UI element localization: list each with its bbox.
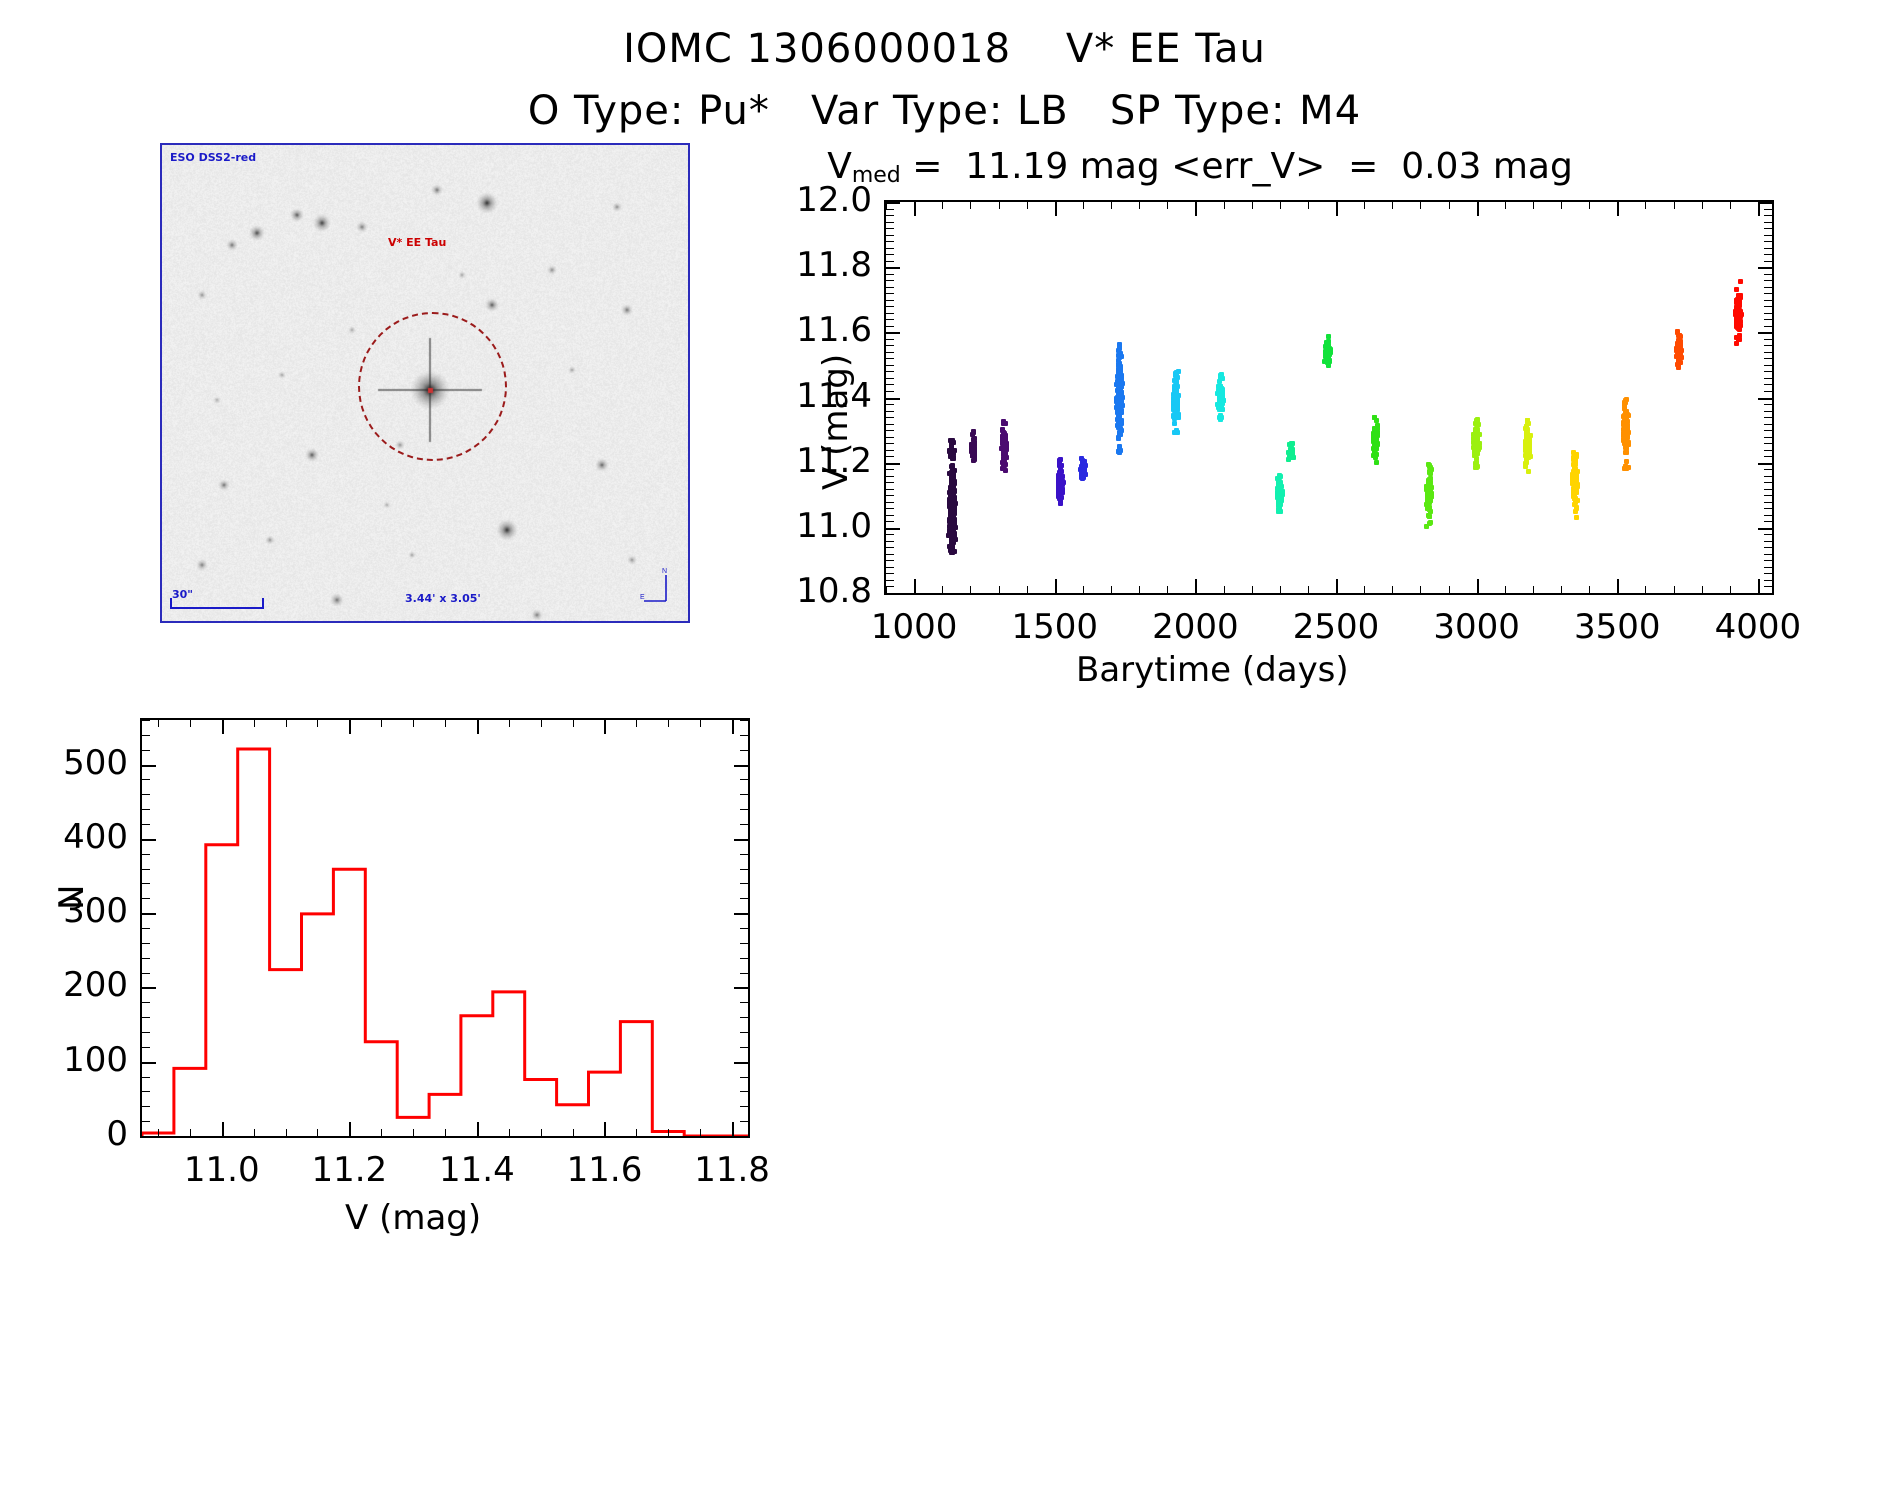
axis-tick [477, 1122, 479, 1136]
lightcurve-stats: Vmed = 11.19 mag <err_V> = 0.03 mag [820, 146, 1580, 188]
axis-tick [1477, 579, 1479, 593]
axis-tick [1764, 547, 1772, 548]
axis-tick [1764, 417, 1772, 418]
lightcurve-point [1173, 430, 1178, 435]
lightcurve-point [949, 464, 954, 469]
lightcurve-x-axis-title: Barytime (days) [1076, 650, 1349, 690]
lightcurve-point [970, 432, 975, 437]
axis-tick [886, 534, 894, 535]
axis-tick [1027, 202, 1028, 209]
lightcurve-point [1573, 482, 1578, 487]
lightcurve-point [1523, 426, 1528, 431]
axis-tick [740, 898, 748, 899]
axis-tick-label: 11.4 [439, 1150, 515, 1190]
lightcurve-point [1428, 465, 1433, 470]
axis-tick [1764, 482, 1772, 483]
lightcurve-point [1117, 410, 1122, 415]
axis-tick [886, 332, 900, 334]
axis-tick [573, 1129, 574, 1136]
axis-tick [886, 274, 894, 275]
axis-tick [1764, 319, 1772, 320]
axis-tick [142, 898, 150, 899]
axis-tick [1764, 554, 1772, 555]
lightcurve-point [1174, 373, 1179, 378]
axis-tick [222, 1122, 224, 1136]
lightcurve-point [970, 452, 975, 457]
lightcurve-point [1172, 421, 1177, 426]
lightcurve-point [972, 448, 977, 453]
axis-tick [1055, 202, 1057, 216]
axis-tick [286, 1129, 287, 1136]
axis-tick [1617, 202, 1619, 216]
axis-tick [1674, 202, 1675, 209]
axis-tick [1252, 586, 1253, 593]
axis-tick-label: 11.8 [694, 1150, 770, 1190]
axis-tick [509, 1129, 510, 1136]
lightcurve-point [1426, 491, 1431, 496]
axis-tick [142, 928, 150, 929]
lightcurve-point [1572, 468, 1577, 473]
axis-tick [1764, 371, 1772, 372]
lightcurve-point [1624, 450, 1629, 455]
axis-tick [886, 489, 894, 490]
lightcurve-point [1524, 458, 1529, 463]
axis-tick [1758, 202, 1760, 216]
lightcurve-point [1118, 390, 1123, 395]
axis-tick [1764, 476, 1772, 477]
lightcurve-point [1472, 453, 1477, 458]
axis-tick [740, 958, 748, 959]
lightcurve-point [1117, 355, 1122, 360]
axis-tick [1764, 287, 1772, 288]
lightcurve-scatter-points [886, 202, 1772, 593]
axis-tick [886, 384, 894, 385]
lightcurve-point [1277, 507, 1282, 512]
axis-tick [886, 235, 894, 236]
axis-tick [1280, 202, 1281, 209]
axis-tick [942, 586, 943, 593]
axis-tick [1505, 202, 1506, 209]
axis-tick [734, 913, 748, 915]
lightcurve-point [1427, 485, 1432, 490]
axis-tick [142, 973, 150, 974]
axis-tick [1764, 248, 1772, 249]
axis-tick [445, 1129, 446, 1136]
histogram-panel: 11.011.211.411.611.80100200300400500 N V… [60, 700, 820, 1260]
lightcurve-point [1117, 344, 1122, 349]
svg-text:E: E [640, 594, 645, 601]
axis-tick [886, 215, 894, 216]
axis-tick [886, 528, 900, 530]
axis-tick [886, 371, 894, 372]
axis-tick [413, 720, 414, 727]
axis-tick [1758, 398, 1772, 400]
axis-tick [317, 1129, 318, 1136]
stats-values: = 11.19 mag <err_V> = 0.03 mag [901, 146, 1573, 187]
object-type-line: O Type: Pu* Var Type: LB SP Type: M4 [0, 88, 1889, 134]
axis-tick [1364, 586, 1365, 593]
axis-tick [886, 541, 894, 542]
axis-tick [445, 720, 446, 727]
axis-tick [1224, 202, 1225, 209]
axis-tick [1758, 267, 1772, 269]
axis-tick [1764, 437, 1772, 438]
axis-tick [886, 300, 894, 301]
lightcurve-point [1056, 492, 1061, 497]
axis-tick-label: 11.6 [567, 1150, 643, 1190]
axis-tick [1167, 586, 1168, 593]
lightcurve-point [949, 525, 954, 530]
lightcurve-point [1116, 449, 1121, 454]
axis-tick [886, 515, 894, 516]
lightcurve-point [1475, 439, 1480, 444]
svg-text:N: N [662, 568, 667, 575]
axis-tick [886, 391, 894, 392]
axis-tick [886, 456, 894, 457]
axis-tick [886, 404, 894, 405]
lightcurve-point [1325, 359, 1330, 364]
axis-tick [740, 1002, 748, 1003]
axis-tick [886, 586, 894, 587]
axis-tick [740, 928, 748, 929]
lightcurve-point [1474, 460, 1479, 465]
lightcurve-point [1735, 303, 1740, 308]
axis-tick [886, 339, 894, 340]
axis-tick-label: 2000 [1152, 607, 1239, 647]
lightcurve-point [1622, 424, 1627, 429]
axis-tick-label: 3500 [1574, 607, 1661, 647]
lightcurve-point [1373, 433, 1378, 438]
lightcurve-point [1738, 279, 1743, 284]
axis-tick [142, 765, 156, 767]
axis-tick [886, 560, 894, 561]
axis-tick [142, 943, 150, 944]
axis-tick [1533, 202, 1534, 209]
axis-tick [142, 1106, 150, 1107]
axis-tick [886, 326, 894, 327]
axis-tick [1195, 202, 1197, 216]
axis-tick [886, 365, 894, 366]
axis-tick-label: 11.0 [796, 506, 872, 546]
lightcurve-point [1374, 452, 1379, 457]
axis-tick [1758, 579, 1760, 593]
axis-tick [740, 943, 748, 944]
axis-tick [886, 306, 894, 307]
lightcurve-point [949, 477, 954, 482]
axis-tick [734, 987, 748, 989]
axis-tick [541, 720, 542, 727]
axis-tick [886, 280, 894, 281]
axis-tick [142, 779, 150, 780]
axis-tick [1764, 560, 1772, 561]
axis-tick [142, 913, 156, 915]
axis-tick [1764, 489, 1772, 490]
lightcurve-point [1118, 421, 1123, 426]
lightcurve-point [1527, 437, 1532, 442]
axis-tick [1589, 202, 1590, 209]
axis-tick [740, 869, 748, 870]
axis-tick [1764, 241, 1772, 242]
axis-tick [886, 430, 894, 431]
axis-tick [142, 824, 150, 825]
lightcurve-point [1374, 418, 1379, 423]
axis-tick [142, 794, 150, 795]
axis-tick [142, 1091, 150, 1092]
axis-tick [1764, 378, 1772, 379]
lightcurve-point [1172, 407, 1177, 412]
lightcurve-point [1326, 347, 1331, 352]
axis-tick [734, 765, 748, 767]
axis-tick [886, 313, 894, 314]
lightcurve-point [1736, 337, 1741, 342]
lightcurve-point [1622, 402, 1627, 407]
axis-tick [1764, 495, 1772, 496]
lightcurve-point [1474, 434, 1479, 439]
axis-tick [886, 443, 894, 444]
axis-tick [142, 839, 156, 841]
histogram-y-axis-title: N [52, 885, 92, 910]
axis-tick [381, 1129, 382, 1136]
axis-tick [1758, 202, 1772, 204]
axis-tick [740, 883, 748, 884]
axis-tick [541, 1129, 542, 1136]
axis-tick [1764, 326, 1772, 327]
lightcurve-y-axis-title: V (mag) [816, 354, 856, 490]
lightcurve-point [1427, 470, 1432, 475]
axis-tick [1764, 450, 1772, 451]
axis-tick [740, 794, 748, 795]
axis-tick [349, 1122, 351, 1136]
axis-tick [1764, 306, 1772, 307]
axis-tick [1195, 579, 1197, 593]
axis-tick-label: 1500 [1011, 607, 1098, 647]
axis-tick [886, 287, 894, 288]
axis-tick [1764, 424, 1772, 425]
axis-tick [1167, 202, 1168, 209]
axis-tick [142, 987, 156, 989]
axis-tick [1139, 202, 1140, 209]
axis-tick [286, 720, 287, 727]
axis-tick [1702, 202, 1703, 209]
lightcurve-point [1623, 413, 1628, 418]
axis-tick [1764, 541, 1772, 542]
lightcurve-point [1735, 325, 1740, 330]
axis-tick-label: 11.8 [796, 245, 872, 285]
axis-tick [740, 779, 748, 780]
axis-tick [886, 482, 894, 483]
axis-tick [1645, 202, 1646, 209]
axis-tick [886, 267, 900, 269]
axis-tick [740, 750, 748, 751]
axis-tick-label: 100 [63, 1040, 128, 1080]
axis-tick [1764, 573, 1772, 574]
axis-tick [886, 495, 894, 496]
axis-tick [142, 750, 150, 751]
axis-tick [1083, 202, 1084, 209]
lightcurve-point [1734, 287, 1739, 292]
axis-tick [1764, 313, 1772, 314]
axis-tick [886, 547, 894, 548]
lightcurve-point [949, 517, 954, 522]
axis-tick [740, 809, 748, 810]
lightcurve-point [1219, 415, 1224, 420]
lightcurve-point [1002, 444, 1007, 449]
axis-tick [886, 254, 894, 255]
finding-chart-panel: V* EE Tau ESO DSS2-red 30" 3.44' x 3.05'… [160, 143, 690, 623]
axis-tick [886, 352, 894, 353]
axis-tick-label: 11.0 [184, 1150, 260, 1190]
axis-tick [1764, 293, 1772, 294]
axis-tick [886, 319, 894, 320]
axis-tick [1561, 202, 1562, 209]
axis-tick [942, 202, 943, 209]
axis-tick [1308, 202, 1309, 209]
axis-tick [1252, 202, 1253, 209]
axis-tick [509, 720, 510, 727]
lightcurve-point [1174, 386, 1179, 391]
lightcurve-point [1374, 460, 1379, 465]
histogram-bars [142, 720, 748, 1136]
axis-tick [1420, 586, 1421, 593]
lightcurve-point [1677, 333, 1682, 338]
lightcurve-point [1573, 500, 1578, 505]
lightcurve-point [1733, 311, 1738, 316]
axis-tick [1764, 274, 1772, 275]
axis-tick [142, 854, 150, 855]
axis-tick [1224, 586, 1225, 593]
lightcurve-point [1736, 316, 1741, 321]
lightcurve-point [1278, 474, 1283, 479]
axis-tick [740, 1121, 748, 1122]
axis-tick [886, 417, 894, 418]
axis-tick [1758, 332, 1772, 334]
axis-tick [886, 424, 894, 425]
axis-tick [886, 450, 894, 451]
axis-tick [1764, 358, 1772, 359]
axis-tick [886, 202, 900, 204]
axis-tick [1139, 586, 1140, 593]
lightcurve-point [1116, 363, 1121, 368]
lightcurve-point [1218, 384, 1223, 389]
axis-tick [1764, 215, 1772, 216]
axis-tick [914, 202, 916, 216]
axis-tick [740, 824, 748, 825]
lightcurve-point [1623, 435, 1628, 440]
axis-tick [142, 1047, 150, 1048]
axis-tick [886, 567, 894, 568]
lightcurve-point [951, 489, 956, 494]
axis-tick-label: 1000 [871, 607, 958, 647]
axis-tick [477, 720, 479, 734]
lightcurve-point [1571, 455, 1576, 460]
axis-tick [158, 720, 159, 727]
axis-tick [636, 720, 637, 727]
axis-tick [886, 476, 894, 477]
lightcurve-point [951, 451, 956, 456]
axis-tick [1364, 202, 1365, 209]
lightcurve-point [949, 444, 954, 449]
lightcurve-point [1573, 487, 1578, 492]
axis-tick [914, 579, 916, 593]
lightcurve-point [1276, 485, 1281, 490]
lightcurve-point [1574, 477, 1579, 482]
axis-tick [1764, 469, 1772, 470]
axis-tick [886, 437, 894, 438]
lightcurve-point [1472, 444, 1477, 449]
axis-tick [1764, 456, 1772, 457]
axis-tick [732, 720, 734, 734]
axis-tick [1764, 515, 1772, 516]
lightcurve-point [1622, 466, 1627, 471]
axis-tick [142, 1077, 150, 1078]
axis-tick [999, 586, 1000, 593]
axis-tick [740, 1017, 748, 1018]
lightcurve-point [1003, 421, 1008, 426]
lightcurve-point [1219, 396, 1224, 401]
axis-tick [142, 958, 150, 959]
axis-tick [1420, 202, 1421, 209]
axis-tick [886, 580, 894, 581]
finding-chart-frame: V* EE Tau ESO DSS2-red 30" 3.44' x 3.05'… [160, 143, 690, 623]
axis-tick [886, 209, 894, 210]
axis-tick [1055, 579, 1057, 593]
lightcurve-point [948, 495, 953, 500]
axis-tick [1505, 586, 1506, 593]
lightcurve-point [1427, 514, 1432, 519]
axis-tick [1764, 261, 1772, 262]
axis-tick [604, 1122, 606, 1136]
axis-tick [573, 720, 574, 727]
axis-tick [190, 1129, 191, 1136]
axis-tick [886, 502, 894, 503]
axis-tick [740, 854, 748, 855]
target-name-label: V* EE Tau [388, 236, 446, 249]
lightcurve-point [951, 456, 956, 461]
lightcurve-point [1081, 467, 1086, 472]
axis-tick [1764, 384, 1772, 385]
axis-tick [970, 202, 971, 209]
axis-tick [1764, 430, 1772, 431]
lightcurve-point [1060, 479, 1065, 484]
axis-tick [222, 720, 224, 734]
lightcurve-point [1114, 405, 1119, 410]
axis-tick [1764, 567, 1772, 568]
axis-tick [668, 1129, 669, 1136]
axis-tick [734, 1062, 748, 1064]
axis-tick [1764, 339, 1772, 340]
lightcurve-point [949, 543, 954, 548]
axis-tick [1280, 586, 1281, 593]
axis-tick-label: 200 [63, 965, 128, 1005]
axis-tick [1617, 579, 1619, 593]
lightcurve-point [1425, 497, 1430, 502]
axis-tick [732, 1122, 734, 1136]
axis-tick [142, 809, 150, 810]
lightcurve-point [1119, 400, 1124, 405]
axis-tick [604, 720, 606, 734]
axis-tick [142, 1121, 150, 1122]
axis-tick [740, 735, 748, 736]
lightcurve-point [1286, 457, 1291, 462]
axis-tick [1764, 209, 1772, 210]
lightcurve-point [949, 538, 954, 543]
axis-tick [142, 1017, 150, 1018]
axis-tick [1111, 586, 1112, 593]
axis-tick [1645, 586, 1646, 593]
axis-tick [886, 378, 894, 379]
axis-tick [142, 869, 150, 870]
lightcurve-point [1526, 469, 1531, 474]
